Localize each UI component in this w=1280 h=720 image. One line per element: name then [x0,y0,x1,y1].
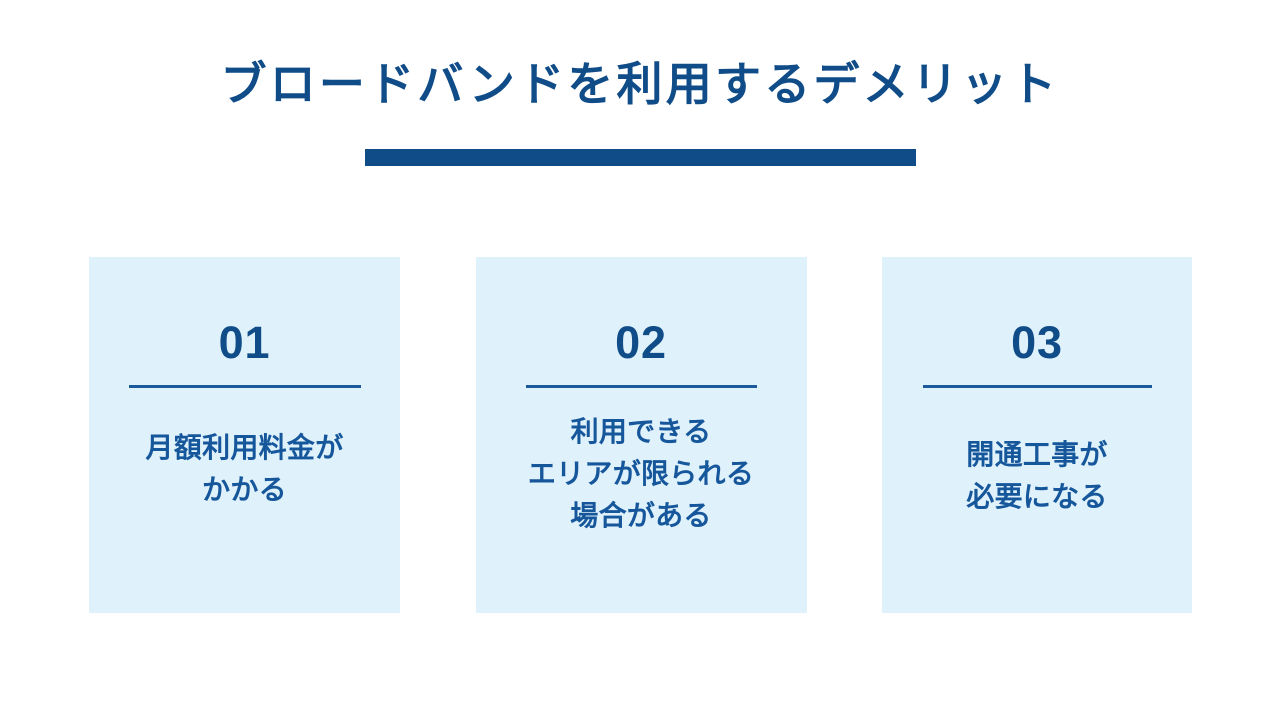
card-text-01: 月額利用料金が かかる [89,427,400,511]
card-item-02: 02 利用できる エリアが限られる 場合がある [476,257,807,613]
card-text-line: 必要になる [892,476,1182,518]
card-text-line: 開通工事が [892,434,1182,476]
card-divider-01 [129,385,361,388]
card-divider-03 [923,385,1152,388]
card-divider-02 [526,385,757,388]
card-number-01: 01 [219,320,271,365]
card-text-line: 月額利用料金が [99,427,390,469]
slide-header: ブロードバンドを利用するデメリット [0,58,1280,166]
card-item-01: 01 月額利用料金が かかる [89,257,400,613]
card-text-03: 開通工事が 必要になる [882,434,1192,518]
slide-root: ブロードバンドを利用するデメリット 01 月額利用料金が かかる 02 利用でき… [0,0,1280,720]
card-number-02: 02 [615,320,667,365]
card-text-line: 利用できる [486,411,797,453]
card-text-line: かかる [99,469,390,511]
card-text-02: 利用できる エリアが限られる 場合がある [476,411,807,537]
page-title: ブロードバンドを利用するデメリット [0,58,1280,111]
card-item-03: 03 開通工事が 必要になる [882,257,1192,613]
title-underline-bar [365,149,916,166]
card-number-03: 03 [1011,320,1063,365]
card-text-line: 場合がある [486,495,797,537]
card-list: 01 月額利用料金が かかる 02 利用できる エリアが限られる 場合がある 0… [89,257,1192,613]
card-text-line: エリアが限られる [486,453,797,495]
